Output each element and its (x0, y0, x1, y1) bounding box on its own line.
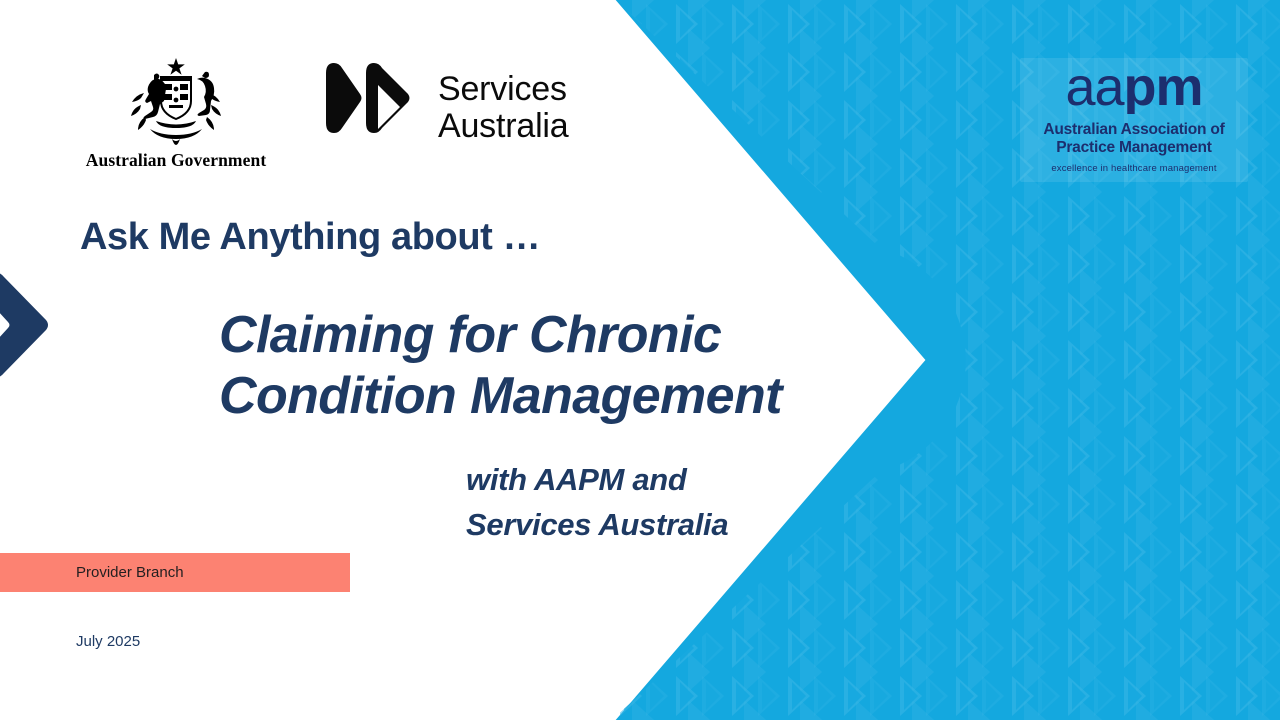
page-title-line2: Condition Management (219, 366, 859, 427)
australian-government-label: Australian Government (86, 150, 267, 171)
slide-kicker: Ask Me Anything about … (80, 216, 540, 259)
presentation-title-slide: Australian Government Services Australia… (0, 0, 1280, 720)
slide-subtitle-line1: with AAPM and (466, 458, 886, 503)
aapm-logo: aapm Australian Association of Practice … (1020, 58, 1248, 182)
page-title-line1: Claiming for Chronic (219, 305, 859, 366)
services-australia-logo: Services Australia (320, 61, 568, 155)
slide-subtitle: with AAPM and Services Australia (466, 458, 886, 548)
date-label: July 2025 (76, 633, 140, 650)
services-australia-chevron-icon (320, 61, 416, 155)
australian-coat-of-arms-icon (114, 55, 238, 147)
aapm-wordmark-bold: pm (1124, 62, 1203, 114)
aapm-wordmark-light: aa (1065, 62, 1123, 114)
logo-bar: Australian Government Services Australia (96, 55, 568, 171)
services-australia-wordmark: Services Australia (438, 71, 568, 144)
navy-chevron-icon (0, 272, 50, 378)
aapm-name-line1: Australian Association of (1026, 121, 1242, 139)
branch-banner: Provider Branch (0, 553, 350, 592)
page-title: Claiming for Chronic Condition Managemen… (219, 305, 859, 428)
services-australia-line2: Australia (438, 108, 568, 145)
services-australia-line1: Services (438, 71, 568, 108)
aapm-full-name: Australian Association of Practice Manag… (1026, 121, 1242, 158)
slide-subtitle-line2: Services Australia (466, 503, 886, 548)
aapm-name-line2: Practice Management (1026, 139, 1242, 157)
australian-government-logo: Australian Government (96, 55, 256, 171)
aapm-wordmark: aapm (1026, 62, 1242, 114)
branch-label: Provider Branch (76, 564, 184, 581)
aapm-tagline: excellence in healthcare management (1026, 163, 1242, 174)
